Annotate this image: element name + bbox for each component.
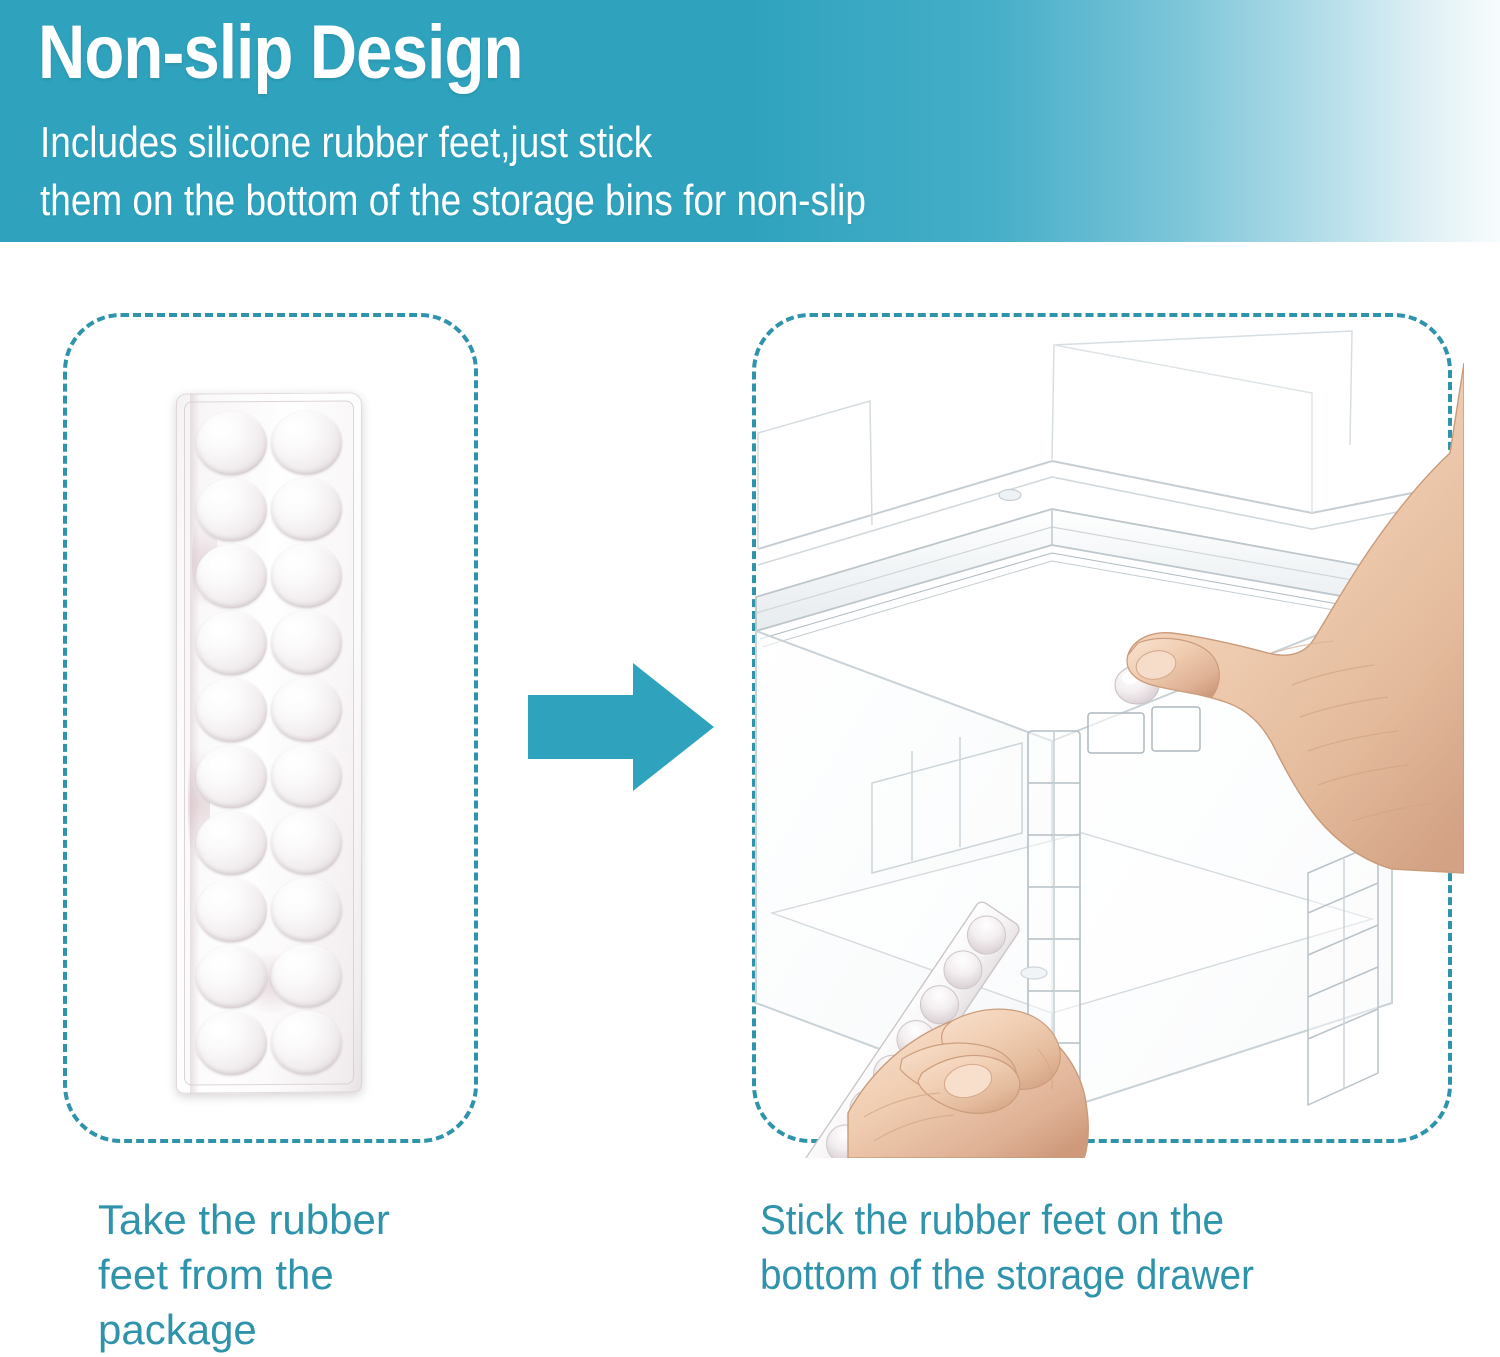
step-1-caption: Take the rubber feet from the package [98,1192,498,1357]
rubber-foot [271,877,342,941]
rubber-foot [271,744,342,808]
rubber-foot [196,611,267,675]
header-subtitle-line-2: them on the bottom of the storage bins f… [40,172,866,230]
header-banner: Non-slip Design Includes silicone rubber… [0,0,1500,242]
rubber-foot [271,611,342,675]
step-1-caption-line-2: feet from the [98,1247,498,1302]
rubber-foot [271,1011,342,1075]
rubber-foot [196,811,267,875]
step-1-caption-line-3: package [98,1302,498,1357]
rubber-foot [196,1011,267,1075]
rubber-foot [196,945,267,1009]
rubber-foot [196,544,267,608]
rubber-foot [271,811,342,875]
arrow-right-icon [528,663,714,791]
header-subtitle-line-1: Includes silicone rubber feet,just stick [40,114,866,172]
rubber-foot [196,478,267,542]
step-2-caption-line-1: Stick the rubber feet on the [760,1192,1422,1247]
rubber-foot [196,678,267,742]
rubber-foot [196,878,267,942]
page-title: Non-slip Design [38,10,523,96]
rubber-foot [271,544,342,608]
storage-drawer-scene-image [752,313,1452,1143]
rubber-foot [271,944,342,1008]
rubber-feet-grid [196,410,342,1075]
step-2-caption-line-2: bottom of the storage drawer [760,1247,1422,1302]
rubber-foot [271,410,342,474]
step-1-caption-line-1: Take the rubber [98,1192,498,1247]
rubber-foot [196,411,267,475]
step-2-caption: Stick the rubber feet on the bottom of t… [760,1192,1422,1302]
header-subtitle: Includes silicone rubber feet,just stick… [40,114,866,230]
rubber-feet-package-image [176,392,362,1093]
step-arrow [528,663,714,791]
rubber-foot [271,677,342,741]
rubber-foot [196,745,267,809]
rubber-foot [271,477,342,541]
drawer-and-hands-illustration [752,313,1464,1158]
